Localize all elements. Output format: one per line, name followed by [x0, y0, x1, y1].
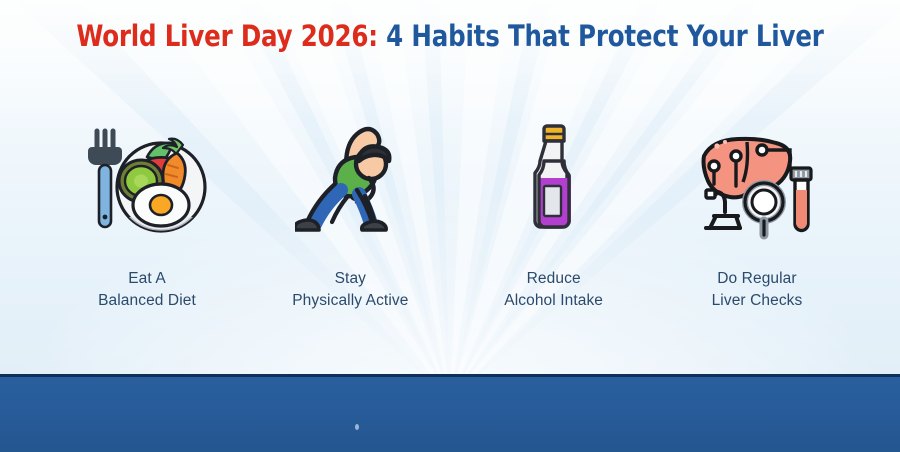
- habit-item-physically-active: Stay Physically Active: [255, 118, 445, 313]
- habit-item-balanced-diet: Eat A Balanced Diet: [52, 118, 242, 313]
- habit-label-physically-active: Stay Physically Active: [292, 268, 408, 313]
- liver-lab-checkup-icon: [692, 118, 822, 246]
- habit-label-liver-checks: Do Regular Liver Checks: [712, 268, 803, 313]
- alcohol-bottle-icon: [523, 118, 585, 246]
- title-rest: 4 Habits That Protect Your Liver: [378, 19, 824, 53]
- poster-canvas: World Liver Day 2026: 4 Habits That Prot…: [0, 0, 900, 452]
- habit-label-balanced-diet: Eat A Balanced Diet: [98, 268, 196, 313]
- stretching-person-icon: [295, 118, 405, 246]
- balanced-diet-plate-icon: [83, 118, 211, 246]
- habit-item-liver-checks: Do Regular Liver Checks: [662, 118, 852, 313]
- habits-row: Eat A Balanced Diet: [52, 118, 852, 313]
- footer-speck: [355, 424, 359, 430]
- footer-band: [0, 377, 900, 452]
- habit-item-reduce-alcohol: Reduce Alcohol Intake: [459, 118, 649, 313]
- page-title: World Liver Day 2026: 4 Habits That Prot…: [27, 21, 873, 53]
- title-highlight: World Liver Day 2026:: [76, 19, 378, 53]
- background-top-fade: [0, 0, 900, 120]
- habit-label-reduce-alcohol: Reduce Alcohol Intake: [504, 268, 603, 313]
